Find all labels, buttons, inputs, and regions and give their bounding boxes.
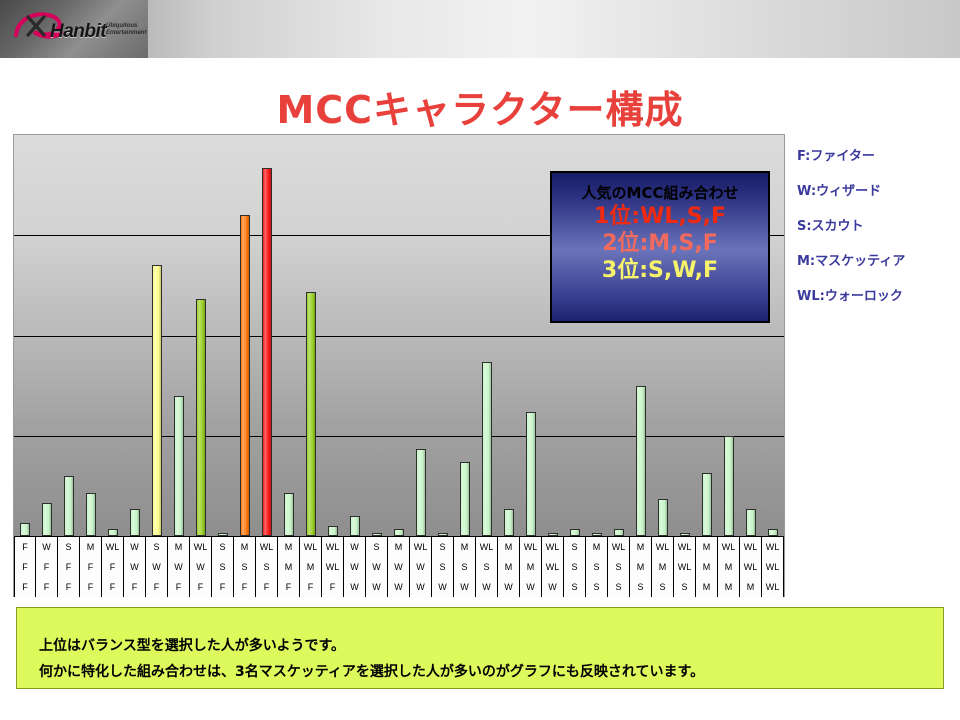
- x-label-cell-row2: F: [36, 557, 57, 577]
- x-label-cell-row2: S: [432, 557, 453, 577]
- x-label-column: SWF: [146, 537, 168, 597]
- x-label-cell-row2: M: [696, 557, 717, 577]
- callout-rank-1: 1位:WL,S,F: [552, 203, 768, 230]
- x-label-column: WLWLF: [322, 537, 344, 597]
- bar-S-S-F: [218, 533, 228, 536]
- bar-M-W-W: [394, 529, 404, 536]
- x-label-cell-row2: W: [146, 557, 167, 577]
- bar-WL-WL-M: [746, 509, 756, 536]
- x-label-column: WLFF: [102, 537, 124, 597]
- legend-item-musketeer: M:マスケッティア: [797, 253, 957, 270]
- x-label-cell-row3: F: [124, 577, 145, 597]
- x-label-cell-row2: M: [278, 557, 299, 577]
- callout-rank-3: 3位:S,W,F: [552, 257, 768, 284]
- x-label-cell-row3: W: [520, 577, 541, 597]
- x-label-column: WLMS: [652, 537, 674, 597]
- x-label-cell-row2: WL: [322, 557, 343, 577]
- x-label-cell-row1: M: [498, 537, 519, 557]
- x-label-column: WLWLW: [542, 537, 564, 597]
- x-label-cell-row1: M: [234, 537, 255, 557]
- legend-item-wizard: W:ウィザード: [797, 183, 957, 200]
- x-label-cell-row1: WL: [762, 537, 783, 557]
- chart-x-axis-label-table: FFFWFFSFFMFFWLFFWWFSWFMWFWLWFSSFMSFWLSFM…: [14, 537, 784, 597]
- bar-WL-WL-F: [328, 526, 338, 536]
- x-label-cell-row2: S: [564, 557, 585, 577]
- x-label-cell-row3: M: [696, 577, 717, 597]
- x-label-column: SSW: [432, 537, 454, 597]
- x-label-cell-row1: M: [80, 537, 101, 557]
- x-label-cell-row3: F: [212, 577, 233, 597]
- x-label-cell-row3: W: [498, 577, 519, 597]
- x-label-cell-row2: W: [410, 557, 431, 577]
- x-label-column: WLWLS: [674, 537, 696, 597]
- x-label-cell-row2: S: [586, 557, 607, 577]
- x-label-column: MSF: [234, 537, 256, 597]
- x-label-cell-row2: W: [388, 557, 409, 577]
- x-label-cell-row1: S: [432, 537, 453, 557]
- bar-M-M-W: [504, 509, 514, 536]
- bar-WL-M-S: [658, 499, 668, 536]
- bar-W-W-F: [130, 509, 140, 536]
- x-label-cell-row2: S: [212, 557, 233, 577]
- legend-item-scout: S:スカウト: [797, 218, 957, 235]
- bar-S-W-W: [372, 533, 382, 536]
- bar-WL-M-M: [724, 436, 734, 536]
- x-label-cell-row2: W: [344, 557, 365, 577]
- x-label-cell-row1: WL: [718, 537, 739, 557]
- page-title: MCCキャラクター構成: [0, 79, 960, 134]
- bar-M-F-F: [86, 493, 96, 536]
- bar-M-S-F: [240, 215, 250, 536]
- x-label-cell-row3: W: [366, 577, 387, 597]
- bar-WL-F-F: [108, 529, 118, 536]
- x-label-cell-row2: F: [80, 557, 101, 577]
- x-label-cell-row1: S: [212, 537, 233, 557]
- x-label-cell-row3: F: [168, 577, 189, 597]
- x-label-cell-row1: WL: [102, 537, 123, 557]
- x-label-cell-row3: F: [102, 577, 123, 597]
- x-label-cell-row2: M: [300, 557, 321, 577]
- logo-wordmark: Hanbit: [50, 21, 106, 43]
- x-label-column: WLSS: [608, 537, 630, 597]
- bar-S-W-F: [152, 265, 162, 536]
- x-label-column: MMS: [630, 537, 652, 597]
- x-label-column: SSS: [564, 537, 586, 597]
- x-label-cell-row3: F: [278, 577, 299, 597]
- x-label-column: SSF: [212, 537, 234, 597]
- x-label-cell-row2: S: [234, 557, 255, 577]
- x-label-cell-row3: W: [454, 577, 475, 597]
- x-label-cell-row2: W: [190, 557, 211, 577]
- x-label-cell-row1: W: [36, 537, 57, 557]
- legend-item-warlock: WL:ウォーロック: [797, 288, 957, 305]
- x-label-cell-row2: M: [718, 557, 739, 577]
- logo-band: Hanbit Ubiquitous Entertainment: [0, 0, 148, 58]
- x-label-cell-row3: F: [80, 577, 101, 597]
- x-label-cell-row1: WL: [542, 537, 563, 557]
- bar-S-F-F: [64, 476, 74, 536]
- x-label-cell-row3: F: [256, 577, 277, 597]
- bar-W-W-W: [350, 516, 360, 536]
- x-label-column: WLSW: [476, 537, 498, 597]
- x-label-column: SWW: [366, 537, 388, 597]
- x-label-cell-row3: M: [740, 577, 761, 597]
- x-label-cell-row3: W: [476, 577, 497, 597]
- note-line-2: 何かに特化した組み合わせは、3名マスケッティアを選択した人が多いのがグラフにも反…: [39, 661, 704, 681]
- x-label-cell-row1: WL: [608, 537, 629, 557]
- x-label-cell-row2: S: [454, 557, 475, 577]
- summary-note-box: 上位はバランス型を選択した人が多いようです。 何かに特化した組み合わせは、3名マ…: [16, 607, 944, 689]
- x-label-cell-row2: WL: [674, 557, 695, 577]
- bar-WL-WL-WL: [768, 529, 778, 536]
- x-label-cell-row3: F: [300, 577, 321, 597]
- x-label-cell-row2: S: [608, 557, 629, 577]
- legend-item-fighter: F:ファイター: [797, 148, 957, 165]
- x-label-cell-row3: W: [388, 577, 409, 597]
- bar-WL-S-W: [482, 362, 492, 536]
- x-label-cell-row2: S: [256, 557, 277, 577]
- bar-M-S-S: [592, 533, 602, 536]
- x-label-column: WLWLWL: [762, 537, 784, 597]
- x-label-cell-row2: M: [630, 557, 651, 577]
- x-label-cell-row2: WL: [762, 557, 783, 577]
- x-label-cell-row1: S: [58, 537, 79, 557]
- bar-WL-WL-S: [680, 533, 690, 536]
- note-line-1: 上位はバランス型を選択した人が多いようです。: [39, 635, 345, 655]
- x-label-cell-row2: F: [102, 557, 123, 577]
- bar-WL-W-F: [196, 299, 206, 536]
- x-label-cell-row1: M: [168, 537, 189, 557]
- x-label-column: WWW: [344, 537, 366, 597]
- callout-heading: 人気のMCC組み合わせ: [552, 182, 768, 203]
- x-label-cell-row3: M: [718, 577, 739, 597]
- x-label-cell-row3: W: [432, 577, 453, 597]
- x-label-cell-row1: WL: [300, 537, 321, 557]
- x-label-cell-row1: M: [454, 537, 475, 557]
- x-label-cell-row2: F: [58, 557, 79, 577]
- page-header: Hanbit Ubiquitous Entertainment: [0, 0, 960, 58]
- x-label-cell-row1: WL: [674, 537, 695, 557]
- x-label-column: SFF: [58, 537, 80, 597]
- x-label-cell-row2: W: [366, 557, 387, 577]
- x-label-cell-row1: M: [696, 537, 717, 557]
- hanbit-logo: Hanbit Ubiquitous Entertainment: [14, 9, 139, 49]
- popular-combos-callout: 人気のMCC組み合わせ 1位:WL,S,F 2位:M,S,F 3位:S,W,F: [550, 171, 770, 323]
- x-label-cell-row2: S: [476, 557, 497, 577]
- bar-M-M-M: [702, 473, 712, 536]
- callout-rank-2: 2位:M,S,F: [552, 230, 768, 257]
- x-label-cell-row3: S: [652, 577, 673, 597]
- x-label-cell-row1: WL: [410, 537, 431, 557]
- x-label-column: MWW: [388, 537, 410, 597]
- x-label-cell-row1: WL: [256, 537, 277, 557]
- bar-S-S-S: [570, 529, 580, 536]
- x-label-column: WLMW: [520, 537, 542, 597]
- bar-WL-S-F: [262, 168, 272, 536]
- x-label-column: WLMF: [300, 537, 322, 597]
- x-label-cell-row1: WL: [652, 537, 673, 557]
- x-label-cell-row1: F: [15, 537, 35, 557]
- x-label-cell-row2: W: [124, 557, 145, 577]
- x-label-cell-row3: S: [674, 577, 695, 597]
- x-label-column: MWF: [168, 537, 190, 597]
- bar-W-F-F: [42, 503, 52, 536]
- x-label-cell-row1: S: [564, 537, 585, 557]
- x-label-cell-row2: W: [168, 557, 189, 577]
- x-label-cell-row3: S: [630, 577, 651, 597]
- x-label-cell-row1: WL: [322, 537, 343, 557]
- x-label-cell-row2: WL: [542, 557, 563, 577]
- x-label-cell-row1: W: [344, 537, 365, 557]
- bar-M-W-F: [174, 396, 184, 536]
- bar-S-S-W: [438, 533, 448, 536]
- x-label-column: WLSF: [256, 537, 278, 597]
- x-label-cell-row3: S: [608, 577, 629, 597]
- x-label-cell-row1: WL: [520, 537, 541, 557]
- x-label-column: WFF: [36, 537, 58, 597]
- x-label-cell-row1: WL: [190, 537, 211, 557]
- x-label-cell-row1: M: [388, 537, 409, 557]
- x-label-cell-row1: WL: [476, 537, 497, 557]
- x-label-column: FFF: [14, 537, 36, 597]
- x-label-cell-row1: M: [630, 537, 651, 557]
- x-label-column: MMM: [696, 537, 718, 597]
- bar-WL-W-W: [416, 449, 426, 536]
- x-label-column: WWF: [124, 537, 146, 597]
- x-label-cell-row3: S: [586, 577, 607, 597]
- bar-M-S-W: [460, 462, 470, 536]
- x-label-cell-row3: F: [58, 577, 79, 597]
- x-label-cell-row3: F: [15, 577, 35, 597]
- x-label-column: MMF: [278, 537, 300, 597]
- x-label-column: MSW: [454, 537, 476, 597]
- x-label-cell-row3: F: [146, 577, 167, 597]
- x-label-cell-row2: F: [15, 557, 35, 577]
- x-label-cell-row1: M: [278, 537, 299, 557]
- x-label-cell-row3: S: [564, 577, 585, 597]
- x-label-cell-row3: W: [542, 577, 563, 597]
- x-label-cell-row3: F: [36, 577, 57, 597]
- x-label-cell-row1: WL: [740, 537, 761, 557]
- bar-F-F-F: [20, 523, 30, 536]
- x-label-cell-row3: F: [322, 577, 343, 597]
- bar-WL-M-F: [306, 292, 316, 536]
- header-divider: [0, 58, 960, 60]
- bar-M-M-F: [284, 493, 294, 536]
- x-label-column: MSS: [586, 537, 608, 597]
- x-label-cell-row3: F: [234, 577, 255, 597]
- x-label-cell-row3: W: [410, 577, 431, 597]
- x-label-cell-row1: M: [586, 537, 607, 557]
- bar-WL-S-S: [614, 529, 624, 536]
- x-label-cell-row3: WL: [762, 577, 783, 597]
- x-label-cell-row3: W: [344, 577, 365, 597]
- x-label-column: WLWLM: [740, 537, 762, 597]
- x-label-column: MMW: [498, 537, 520, 597]
- x-label-cell-row2: M: [498, 557, 519, 577]
- x-label-cell-row1: W: [124, 537, 145, 557]
- x-label-column: WLWF: [190, 537, 212, 597]
- x-label-cell-row1: S: [146, 537, 167, 557]
- bar-WL-M-W: [526, 412, 536, 536]
- x-label-cell-row1: S: [366, 537, 387, 557]
- x-label-cell-row2: M: [520, 557, 541, 577]
- x-label-column: MFF: [80, 537, 102, 597]
- x-label-cell-row3: F: [190, 577, 211, 597]
- logo-tagline: Ubiquitous Entertainment: [106, 23, 152, 37]
- bar-M-M-S: [636, 386, 646, 536]
- x-label-column: WLMM: [718, 537, 740, 597]
- x-label-column: WLWW: [410, 537, 432, 597]
- class-abbreviation-legend: F:ファイター W:ウィザード S:スカウト M:マスケッティア WL:ウォーロ…: [797, 148, 957, 323]
- x-label-cell-row2: WL: [740, 557, 761, 577]
- x-label-cell-row2: M: [652, 557, 673, 577]
- bar-WL-WL-W: [548, 533, 558, 536]
